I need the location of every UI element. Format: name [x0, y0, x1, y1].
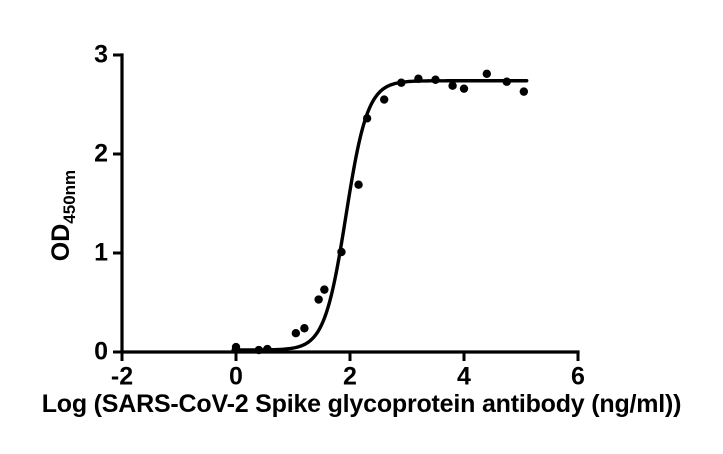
- data-point: [255, 346, 263, 354]
- chart-figure: 0123 -20246 OD450nm Log (SARS-CoV-2 Spik…: [0, 0, 723, 454]
- data-point: [320, 285, 328, 293]
- data-point: [460, 84, 468, 92]
- data-point: [380, 95, 388, 103]
- axes-group: [122, 55, 578, 352]
- data-point: [503, 78, 511, 86]
- y-axis-title-text: OD450nm: [50, 169, 79, 260]
- data-point: [397, 79, 405, 87]
- data-point: [292, 329, 300, 337]
- x-tick-label: 4: [457, 363, 471, 391]
- y-axis-title-main: OD: [48, 223, 76, 261]
- data-point: [363, 114, 371, 122]
- y-axis-title: OD450nm: [44, 150, 84, 280]
- data-point: [300, 324, 308, 332]
- x-tick-label: 0: [229, 363, 243, 391]
- data-point: [314, 295, 322, 303]
- x-axis-title-text: Log (SARS-CoV-2 Spike glycoprotein antib…: [42, 390, 682, 418]
- y-axis-title-subscript: 450nm: [61, 169, 80, 223]
- y-tick-label: 0: [94, 338, 108, 366]
- y-tick-label: 3: [94, 41, 108, 69]
- data-point: [483, 70, 491, 78]
- data-point: [448, 81, 456, 89]
- dose-response-plot: 0123 -20246: [0, 0, 723, 454]
- data-point: [354, 180, 362, 188]
- data-point: [431, 76, 439, 84]
- x-tick-label: -2: [111, 363, 133, 391]
- x-axis-ticks: -20246: [111, 352, 585, 391]
- data-point: [520, 87, 528, 95]
- x-tick-label: 6: [571, 363, 585, 391]
- x-axis-title: Log (SARS-CoV-2 Spike glycoprotein antib…: [0, 390, 723, 419]
- x-tick-label: 2: [343, 363, 357, 391]
- y-tick-label: 1: [94, 239, 108, 267]
- data-point: [337, 248, 345, 256]
- data-point: [414, 75, 422, 83]
- sigmoid-fit-curve: [233, 81, 527, 350]
- data-point: [232, 343, 240, 351]
- data-points-group: [232, 70, 528, 355]
- y-axis-ticks: 0123: [94, 41, 122, 366]
- data-point: [263, 345, 271, 353]
- y-tick-label: 2: [94, 140, 108, 168]
